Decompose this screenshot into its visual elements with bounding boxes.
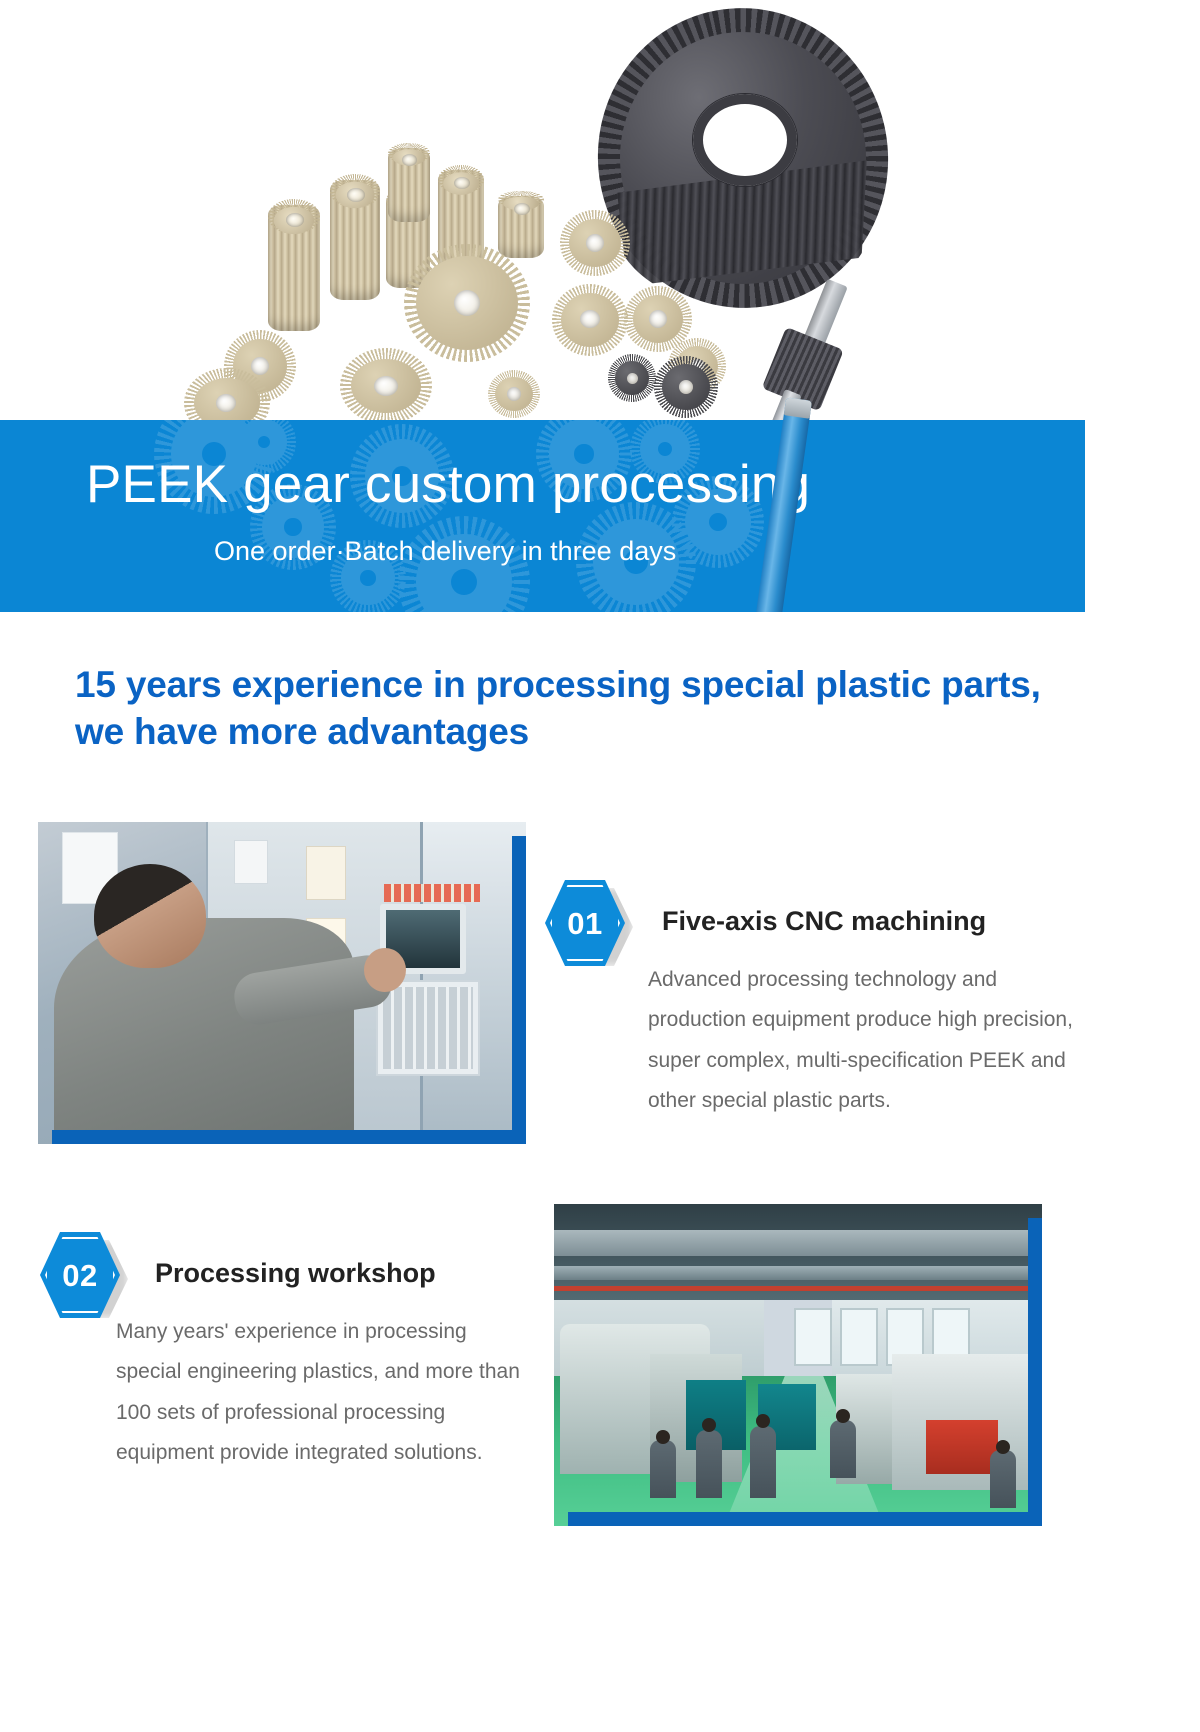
peek-spur-gear xyxy=(560,210,630,276)
feature-badge-01: 01 xyxy=(545,880,627,968)
peek-spur-gear xyxy=(552,284,628,356)
hero-section: PEEK gear custom processing One order·Ba… xyxy=(0,0,1085,612)
section-headline: 15 years experience in processing specia… xyxy=(75,662,1075,756)
peek-spur-gear xyxy=(488,370,540,418)
peek-pinion-gear xyxy=(268,205,320,331)
peek-pinion-gear xyxy=(498,196,544,258)
feature-number-02: 02 xyxy=(62,1260,97,1291)
feature-title-01: Five-axis CNC machining xyxy=(662,906,986,937)
banner-gear-watermark xyxy=(0,420,1085,612)
feature-badge-02: 02 xyxy=(40,1232,122,1320)
carbon-spur-gear xyxy=(654,356,718,418)
feature-body-02: Many years' experience in processing spe… xyxy=(116,1312,526,1473)
carbon-spur-gear xyxy=(608,354,656,402)
large-helical-gear-icon xyxy=(598,8,888,308)
banner-title: PEEK gear custom processing xyxy=(86,454,810,515)
cnc-machining-photo xyxy=(38,822,526,1144)
feature-title-02: Processing workshop xyxy=(155,1258,436,1289)
peek-spur-gear xyxy=(340,348,432,424)
hero-banner: PEEK gear custom processing One order·Ba… xyxy=(0,420,1085,612)
peek-pinion-gear xyxy=(388,148,430,222)
gear-product-photo xyxy=(0,0,1085,430)
banner-subtitle: One order·Batch delivery in three days xyxy=(214,536,676,567)
processing-workshop-photo xyxy=(554,1204,1042,1526)
feature-body-01: Advanced processing technology and produ… xyxy=(648,960,1078,1121)
peek-pinion-gear xyxy=(330,180,380,300)
peek-web-gear xyxy=(404,244,530,362)
feature-number-01: 01 xyxy=(567,908,602,939)
